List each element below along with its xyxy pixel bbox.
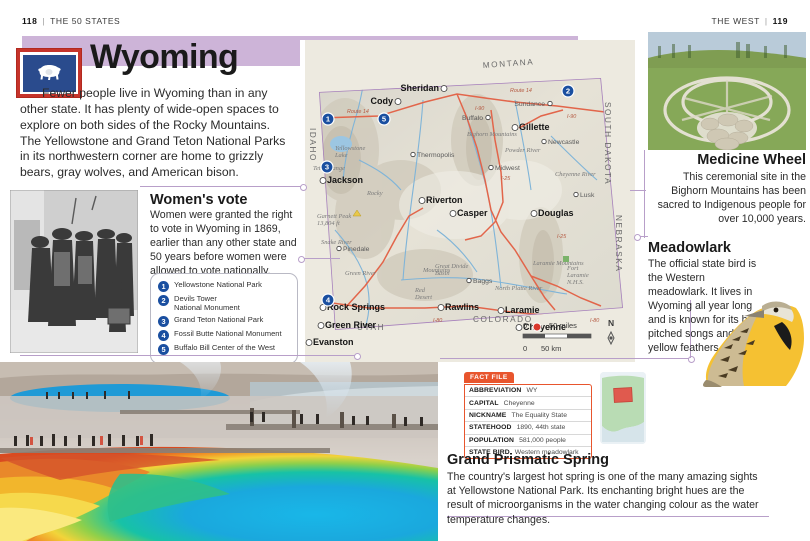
map-feature-label: Bighorn Mountains — [467, 131, 517, 138]
fact-file-key: STATEHOOD — [469, 424, 512, 431]
connector-line — [440, 358, 690, 359]
map-route-label: I-25 — [501, 176, 511, 182]
folio-separator-left: | — [42, 16, 45, 26]
map-city-dot — [395, 99, 401, 105]
legend-item-label: Grand Teton National Park — [174, 315, 263, 324]
legend-item-2[interactable]: 2Devils TowerNational Monument — [158, 294, 290, 313]
map-city-label: Riverton — [426, 195, 463, 205]
page-title: Wyoming — [90, 40, 238, 74]
legend-number-badge: 3 — [158, 316, 169, 327]
fact-file-value: WY — [526, 387, 537, 394]
map-city-dot — [320, 178, 326, 184]
map-marker-number: 3 — [325, 163, 329, 172]
map-city-label: Newcastle — [548, 139, 580, 146]
map-city-label: Jackson — [327, 175, 363, 185]
map-feature-label: Mountains — [422, 267, 451, 274]
fact-file-tab: FACT FILE — [464, 372, 514, 384]
fact-file-key: CAPITAL — [469, 400, 499, 407]
map-city-label: Rawlins — [445, 302, 479, 312]
womens-vote-text: Women were granted the right to vote in … — [150, 208, 298, 278]
map-city-dot — [486, 115, 490, 119]
us-locator-map — [600, 372, 646, 444]
map-feature-label: Rocky — [366, 190, 383, 197]
legend-number-badge: 1 — [158, 281, 169, 292]
svg-text:0: 0 — [523, 321, 527, 330]
map-city-dot — [318, 323, 324, 329]
state-map[interactable]: MONTANASOUTH DAKOTANEBRASKACOLORADOUTAHI… — [305, 40, 635, 362]
legend-item-3[interactable]: 3Grand Teton National Park — [158, 315, 290, 327]
map-route-label: I-25 — [557, 234, 567, 240]
historic-site-icon — [563, 256, 569, 262]
legend-item-label: Fossil Butte National Monument — [174, 329, 282, 338]
map-city-dot — [441, 86, 447, 92]
map-city-label: Douglas — [538, 208, 574, 218]
fact-file-row: CAPITALCheyenne — [465, 397, 591, 409]
fact-file-value: Cheyenne — [504, 400, 535, 407]
folio-right: 119 — [773, 16, 788, 26]
fact-file-value: The Equality State — [511, 412, 567, 419]
capital-marker — [533, 323, 541, 331]
fact-file-key: POPULATION — [469, 437, 514, 444]
connector-line — [630, 190, 646, 191]
map-city-label: Lusk — [580, 192, 595, 199]
fact-file-value: 1890, 44th state — [517, 424, 566, 431]
map-feature-label: Cheyenne River — [555, 171, 596, 178]
fact-file-row: STATEHOOD1890, 44th state — [465, 422, 591, 434]
legend-number-badge: 4 — [158, 330, 169, 341]
legend-item-label: Devils TowerNational Monument — [174, 294, 240, 313]
map-city-label: Green River — [325, 320, 377, 330]
map-city-label: Baggs — [473, 278, 493, 285]
map-city-dot — [498, 308, 504, 314]
map-city-dot — [438, 305, 444, 311]
map-city-dot — [489, 165, 493, 169]
state-intro-text: Fewer people live in Wyoming than in any… — [20, 86, 286, 181]
section-title-left: THE 50 STATES — [50, 16, 120, 26]
running-head-left: 118|THE 50 STATES — [22, 16, 120, 26]
map-city-dot — [450, 211, 456, 217]
map-city-dot — [306, 340, 312, 346]
womens-vote-title: Women's vote — [150, 192, 247, 208]
map-legend[interactable]: 1Yellowstone National Park2Devils TowerN… — [150, 273, 298, 364]
map-route-label: I-90 — [475, 106, 484, 112]
map-city-dot — [531, 211, 537, 217]
connector-node — [634, 234, 641, 241]
fact-file-key: NICKNAME — [469, 412, 506, 419]
legend-number-badge: 2 — [158, 295, 169, 306]
map-feature-label: Powder River — [504, 147, 541, 154]
bison-icon — [36, 63, 62, 83]
map-neighbor-label: SOUTH DAKOTA — [603, 102, 612, 185]
svg-text:0: 0 — [523, 344, 527, 353]
fact-file-row: ABBREVIATIONWY — [465, 385, 591, 397]
map-city-label: Gillette — [519, 122, 550, 132]
map-city-label: Cody — [371, 96, 394, 106]
svg-text:50 km: 50 km — [541, 344, 561, 353]
map-city-label: Sheridan — [400, 83, 439, 93]
folio-left: 118 — [22, 16, 37, 26]
map-marker-number: 2 — [566, 87, 570, 96]
map-city-dot — [467, 278, 471, 282]
connector-line — [20, 355, 356, 356]
map-city-dot — [516, 325, 522, 331]
map-neighbor-label: NEBRASKA — [614, 215, 623, 272]
legend-item-1[interactable]: 1Yellowstone National Park — [158, 280, 290, 292]
map-city-dot — [548, 101, 552, 105]
connector-node — [300, 184, 307, 191]
medicine-wheel-text: This ceremonial site in the Bighorn Moun… — [648, 170, 806, 226]
medicine-wheel-photo — [648, 32, 806, 150]
svg-text:N: N — [608, 318, 614, 328]
map-city-dot — [419, 198, 425, 204]
map-city-label: Buffalo — [462, 115, 483, 122]
connector-line — [300, 258, 340, 259]
map-city-label: Casper — [457, 208, 488, 218]
map-route-label: Route 14 — [347, 109, 369, 115]
map-city-dot — [542, 139, 546, 143]
legend-item-4[interactable]: 4Fossil Butte National Monument — [158, 329, 290, 341]
connector-node — [354, 353, 361, 360]
map-city-dot — [411, 152, 415, 156]
running-head-right: THE WEST|119 — [712, 16, 788, 26]
folio-separator-right: | — [765, 16, 768, 26]
map-city-dot — [512, 125, 518, 131]
grand-prismatic-title: Grand Prismatic Spring — [447, 452, 609, 468]
map-city-label: Midwest — [495, 165, 520, 172]
map-feature-label: Green River — [345, 270, 377, 277]
meadowlark-photo — [700, 288, 810, 388]
legend-item-label: Buffalo Bill Center of the West — [174, 343, 275, 352]
grand-prismatic-photo — [0, 362, 438, 541]
fact-file-rows: ABBREVIATIONWYCAPITALCheyenneNICKNAMEThe… — [464, 384, 592, 459]
map-feature-label: North Platte River — [494, 285, 543, 292]
connector-node — [298, 256, 305, 263]
womens-vote-photo — [10, 190, 138, 353]
map-city-label: Sundance — [514, 101, 545, 108]
legend-item-5[interactable]: 5Buffalo Bill Center of the West — [158, 343, 290, 355]
fact-file-value: 581,000 people — [519, 437, 566, 444]
medicine-wheel-title: Medicine Wheel — [648, 152, 806, 168]
map-city-label: Evanston — [313, 337, 354, 347]
map-city-dot — [337, 246, 341, 250]
fact-file: FACT FILE ABBREVIATIONWYCAPITALCheyenneN… — [464, 366, 592, 459]
connector-line-vertical — [644, 150, 645, 238]
grand-prismatic-text: The country's largest hot spring is one … — [447, 470, 767, 527]
map-canvas: MONTANASOUTH DAKOTANEBRASKACOLORADOUTAHI… — [305, 40, 635, 362]
meadowlark-title: Meadowlark — [648, 240, 731, 256]
fact-file-row: NICKNAMEThe Equality State — [465, 410, 591, 422]
section-title-right: THE WEST — [712, 16, 760, 26]
map-city-label: Pinedale — [343, 246, 370, 253]
map-route-label: I-80 — [433, 318, 442, 324]
map-route-label: I-80 — [590, 318, 599, 324]
fact-file-row: POPULATION581,000 people — [465, 435, 591, 447]
map-city-label: Laramie — [505, 305, 540, 315]
page-spread: 118|THE 50 STATES THE WEST|119 Wyoming F… — [0, 0, 810, 541]
fact-file-key: ABBREVIATION — [469, 387, 521, 394]
map-route-label: Route 14 — [510, 88, 532, 94]
map-city-label: Rock Springs — [327, 302, 385, 312]
map-neighbor-label: IDAHO — [308, 128, 317, 162]
legend-item-label: Yellowstone National Park — [174, 280, 262, 289]
svg-text:50 miles: 50 miles — [549, 321, 577, 330]
map-city-label: Thermopolis — [417, 152, 455, 159]
map-feature-label: Snake River — [321, 239, 352, 246]
legend-number-badge: 5 — [158, 344, 169, 355]
map-route-label: I-90 — [567, 114, 576, 120]
connector-line — [140, 186, 304, 187]
map-city-dot — [574, 192, 578, 196]
